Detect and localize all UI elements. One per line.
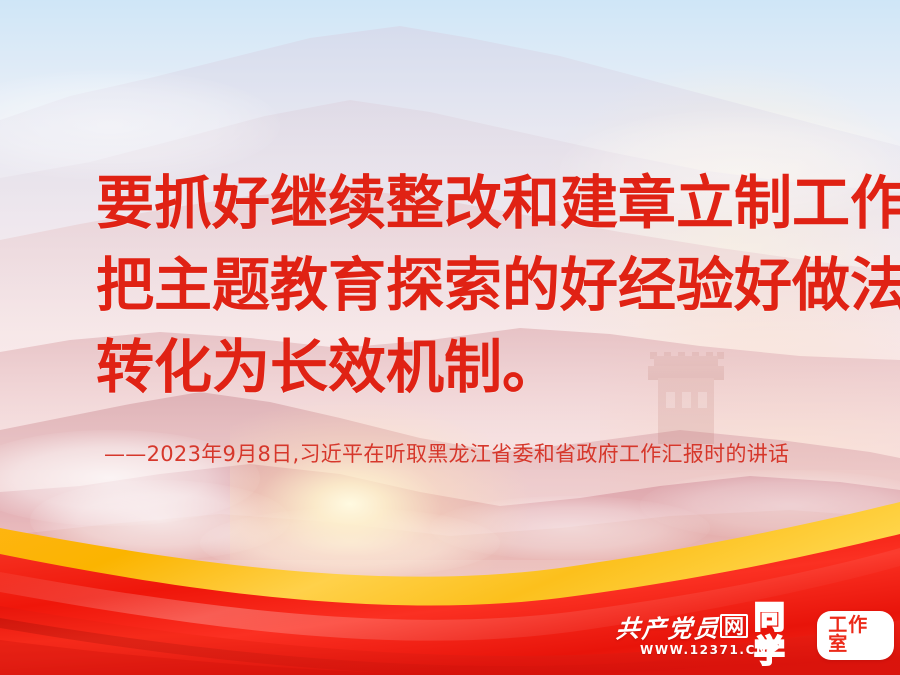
site-char-3: 党 (667, 608, 694, 644)
quote-block: 要抓好继续整改和建章立制工作, 把主题教育探索的好经验好做法 转化为长效机制。 (96, 162, 886, 408)
quote-attribution: ——2023年9月8日,习近平在听取黑龙江省委和省政府工作汇报时的讲话 (104, 438, 789, 468)
sun-glow (230, 400, 530, 600)
cloud-wisp-5 (640, 470, 900, 540)
site-char-1: 共 (615, 608, 642, 644)
site-char-2: 产 (641, 608, 668, 644)
quote-line-3: 转化为长效机制。 (96, 326, 886, 408)
cloud-wisp-3 (200, 508, 500, 578)
site-char-4: 员 (693, 608, 720, 644)
studio-logo[interactable]: 同学 工作室 (754, 613, 894, 657)
quote-line-2: 把主题教育探索的好经验好做法 (96, 244, 886, 326)
poster-canvas: 要抓好继续整改和建章立制工作, 把主题教育探索的好经验好做法 转化为长效机制。 … (0, 0, 900, 675)
logo-block[interactable]: 共 产 党 员 网 WWW.12371.CN 同学 工作室 (612, 606, 894, 664)
cloud-wisp-2 (30, 480, 290, 560)
quote-line-1: 要抓好继续整改和建章立制工作, (96, 162, 886, 244)
site-logo[interactable]: 共 产 党 员 网 WWW.12371.CN (612, 609, 744, 661)
site-url: WWW.12371.CN (640, 643, 768, 657)
site-logo-characters: 共 产 党 员 网 (616, 609, 754, 643)
cloud-wisp-4 (430, 496, 710, 560)
studio-pill-text: 工作室 (817, 611, 894, 660)
studio-outline-text: 同学 (754, 601, 812, 669)
site-char-boxed: 网 (720, 614, 748, 638)
